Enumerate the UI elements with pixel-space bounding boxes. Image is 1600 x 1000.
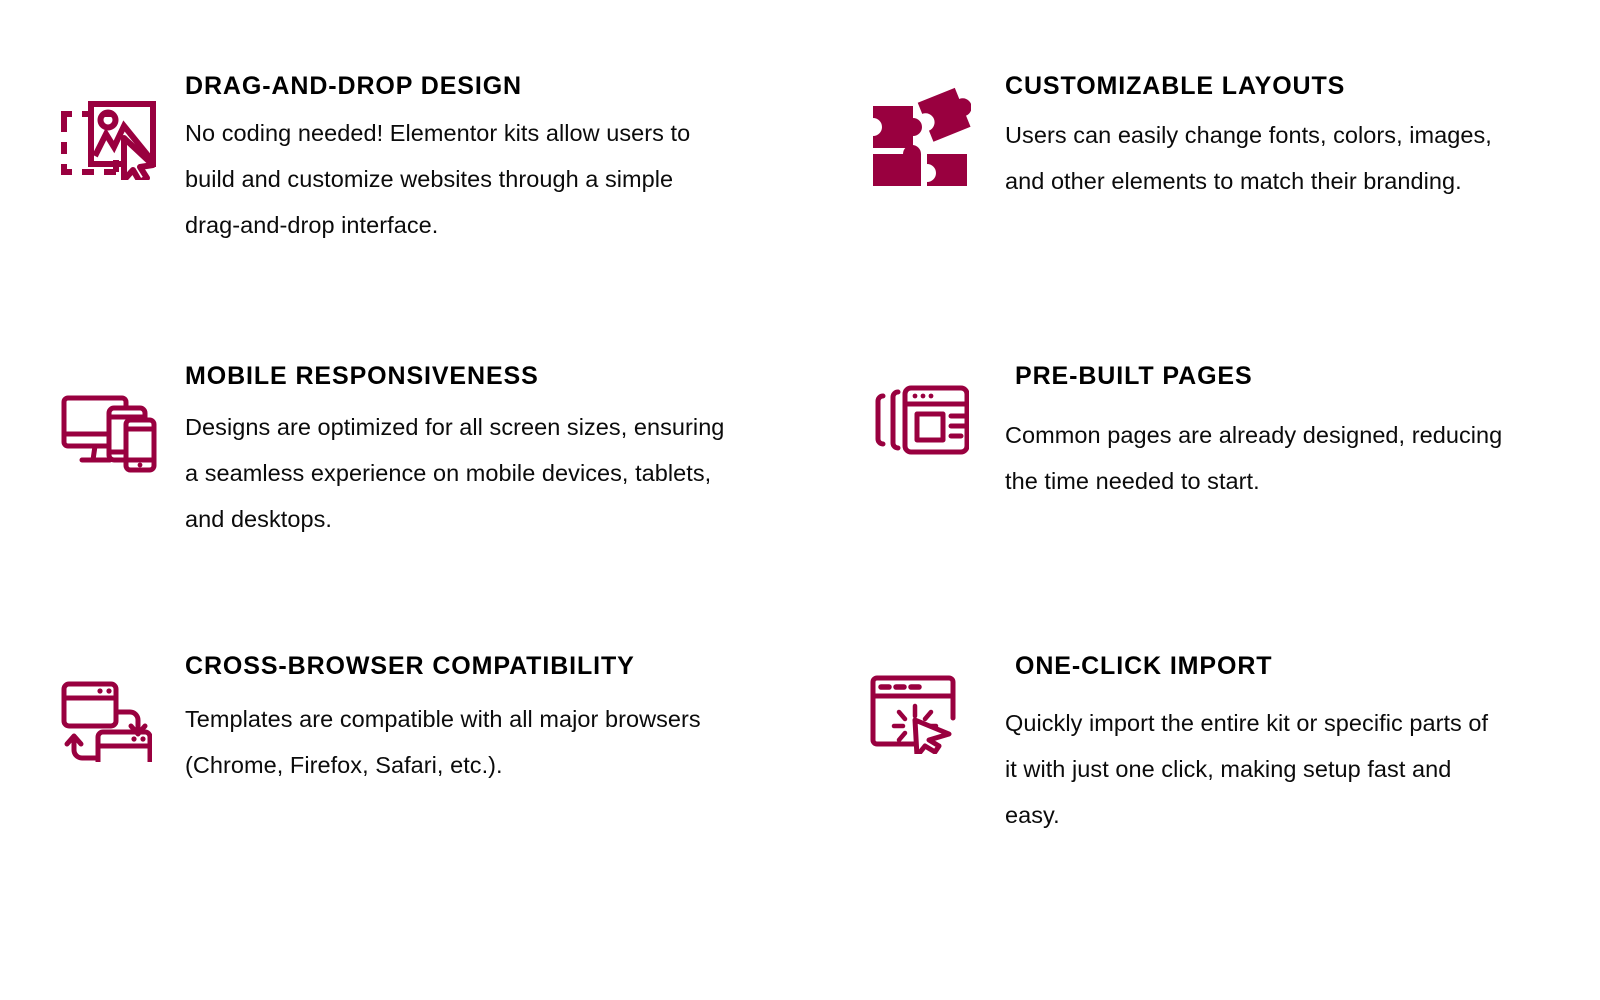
icon-container [865, 362, 1005, 458]
icon-container [60, 652, 185, 762]
feature-card-mobile-responsiveness: MOBILE RESPONSIVENESS Designs are optimi… [60, 362, 865, 652]
feature-card-pre-built-pages: PRE-BUILT PAGES Common pages are already… [865, 362, 1540, 652]
feature-title: CUSTOMIZABLE LAYOUTS [1005, 72, 1540, 100]
feature-card-one-click-import: ONE-CLICK IMPORT Quickly import the enti… [865, 652, 1540, 942]
feature-card-customizable-layouts: CUSTOMIZABLE LAYOUTS Users can easily ch… [865, 72, 1540, 362]
features-page: DRAG-AND-DROP DESIGN No coding needed! E… [0, 0, 1600, 1000]
browser-click-cursor-icon [865, 668, 961, 754]
feature-title: CROSS-BROWSER COMPATIBILITY [185, 652, 865, 680]
icon-container [60, 362, 185, 474]
text-container: DRAG-AND-DROP DESIGN No coding needed! E… [185, 72, 865, 248]
icon-container [865, 72, 1005, 186]
feature-body: Quickly import the entire kit or specifi… [1005, 700, 1505, 838]
feature-body: Users can easily change fonts, colors, i… [1005, 112, 1505, 204]
text-container: ONE-CLICK IMPORT Quickly import the enti… [1005, 652, 1540, 838]
feature-title: MOBILE RESPONSIVENESS [185, 362, 865, 390]
feature-title: PRE-BUILT PAGES [1005, 362, 1540, 390]
feature-body: No coding needed! Elementor kits allow u… [185, 110, 725, 248]
feature-body: Designs are optimized for all screen siz… [185, 404, 725, 542]
icon-container [865, 652, 1005, 754]
feature-title: DRAG-AND-DROP DESIGN [185, 72, 865, 100]
feature-card-drag-and-drop-design: DRAG-AND-DROP DESIGN No coding needed! E… [60, 72, 865, 362]
icon-container [60, 72, 185, 180]
feature-card-cross-browser-compatibility: CROSS-BROWSER COMPATIBILITY Templates ar… [60, 652, 865, 942]
feature-title: ONE-CLICK IMPORT [1005, 652, 1540, 680]
features-grid: DRAG-AND-DROP DESIGN No coding needed! E… [60, 72, 1540, 942]
devices-monitor-tablet-phone-icon [60, 390, 158, 474]
feature-body: Templates are compatible with all major … [185, 696, 725, 788]
text-container: PRE-BUILT PAGES Common pages are already… [1005, 362, 1540, 504]
two-browsers-sync-arrows-icon [60, 678, 152, 762]
text-container: CROSS-BROWSER COMPATIBILITY Templates ar… [185, 652, 865, 788]
image-drag-drop-cursor-icon [60, 98, 158, 180]
text-container: CUSTOMIZABLE LAYOUTS Users can easily ch… [1005, 72, 1540, 204]
stacked-browser-pages-icon [865, 382, 969, 458]
feature-body: Common pages are already designed, reduc… [1005, 412, 1505, 504]
text-container: MOBILE RESPONSIVENESS Designs are optimi… [185, 362, 865, 542]
puzzle-pieces-icon [865, 86, 971, 186]
